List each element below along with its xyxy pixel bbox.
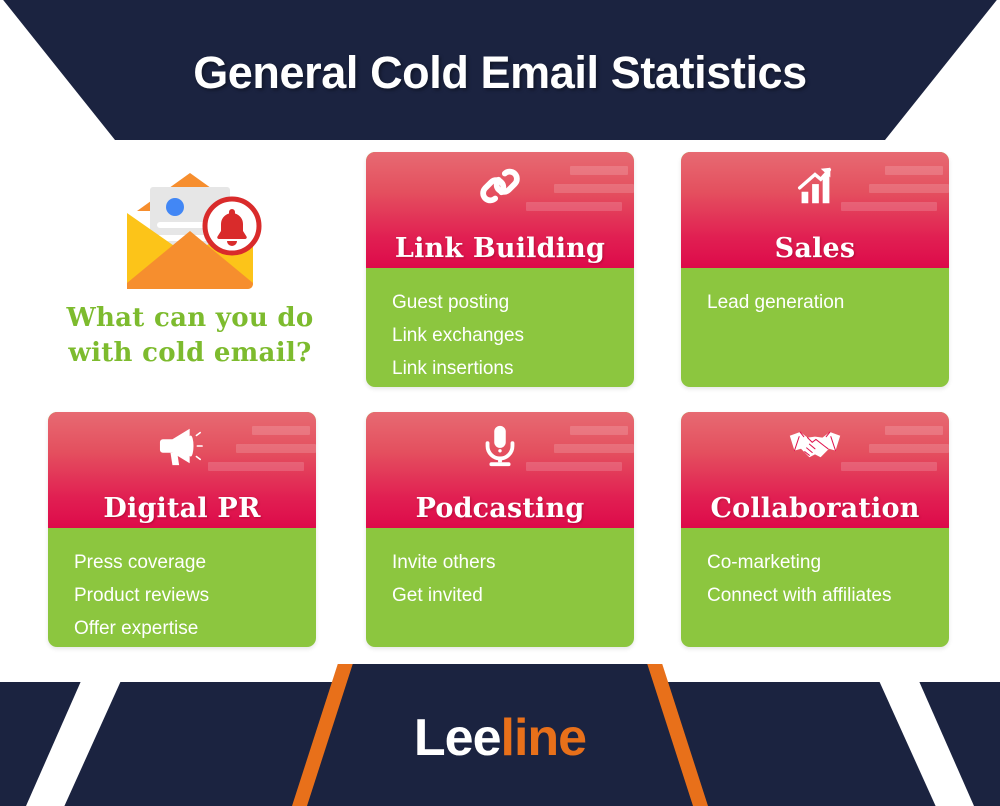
list-item: Co-marketing — [707, 546, 949, 579]
list-item: Lead generation — [707, 286, 949, 319]
card-title: Collaboration — [681, 493, 949, 524]
card-header: Link Building — [366, 152, 634, 268]
list-item: Connect with affiliates — [707, 579, 949, 612]
card-title: Podcasting — [366, 493, 634, 524]
list-item: Product reviews — [74, 579, 316, 612]
card-body: Invite others Get invited — [366, 528, 634, 612]
card-body: Press coverage Product reviews Offer exp… — [48, 528, 316, 645]
bar-chart-growth-arrow-icon — [681, 161, 949, 211]
card-title: Link Building — [366, 233, 634, 264]
list-item: Invite others — [392, 546, 634, 579]
intro-block: What can you do with cold email? — [30, 155, 350, 395]
megaphone-icon — [48, 421, 316, 471]
card-body: Co-marketing Connect with affiliates — [681, 528, 949, 612]
card-collaboration[interactable]: Collaboration Co-marketing Connect with … — [681, 412, 949, 647]
card-sales[interactable]: Sales Lead generation — [681, 152, 949, 387]
card-header: Sales — [681, 152, 949, 268]
card-header: Digital PR — [48, 412, 316, 528]
intro-question-line-1: What can you do — [30, 301, 350, 336]
content-board: What can you do with cold email? Link Bu… — [0, 140, 1000, 650]
intro-question-line-2: with cold email? — [30, 336, 350, 371]
card-header: Collaboration — [681, 412, 949, 528]
microphone-icon — [366, 421, 634, 471]
list-item: Link insertions — [392, 352, 634, 385]
page-footer: Leeline — [0, 650, 1000, 806]
list-item: Link exchanges — [392, 319, 634, 352]
card-digital-pr[interactable]: Digital PR Press coverage Product review… — [48, 412, 316, 647]
list-item: Get invited — [392, 579, 634, 612]
intro-question: What can you do with cold email? — [30, 301, 350, 371]
handshake-icon — [681, 421, 949, 471]
brand-logo-part-1: Lee — [414, 709, 501, 767]
list-item: Offer expertise — [74, 612, 316, 645]
card-title: Sales — [681, 233, 949, 264]
brand-logo-part-2: line — [501, 709, 587, 767]
card-title: Digital PR — [48, 493, 316, 524]
card-body: Lead generation — [681, 268, 949, 319]
card-body: Guest posting Link exchanges Link insert… — [366, 268, 634, 385]
card-header: Podcasting — [366, 412, 634, 528]
brand-logo: Leeline — [0, 708, 1000, 768]
card-link-building[interactable]: Link Building Guest posting Link exchang… — [366, 152, 634, 387]
list-item: Press coverage — [74, 546, 316, 579]
page-header: General Cold Email Statistics — [0, 0, 1000, 140]
card-podcasting[interactable]: Podcasting Invite others Get invited — [366, 412, 634, 647]
chain-link-icon — [366, 161, 634, 211]
open-envelope-icon — [115, 165, 265, 295]
page-title: General Cold Email Statistics — [0, 47, 1000, 99]
list-item: Guest posting — [392, 286, 634, 319]
